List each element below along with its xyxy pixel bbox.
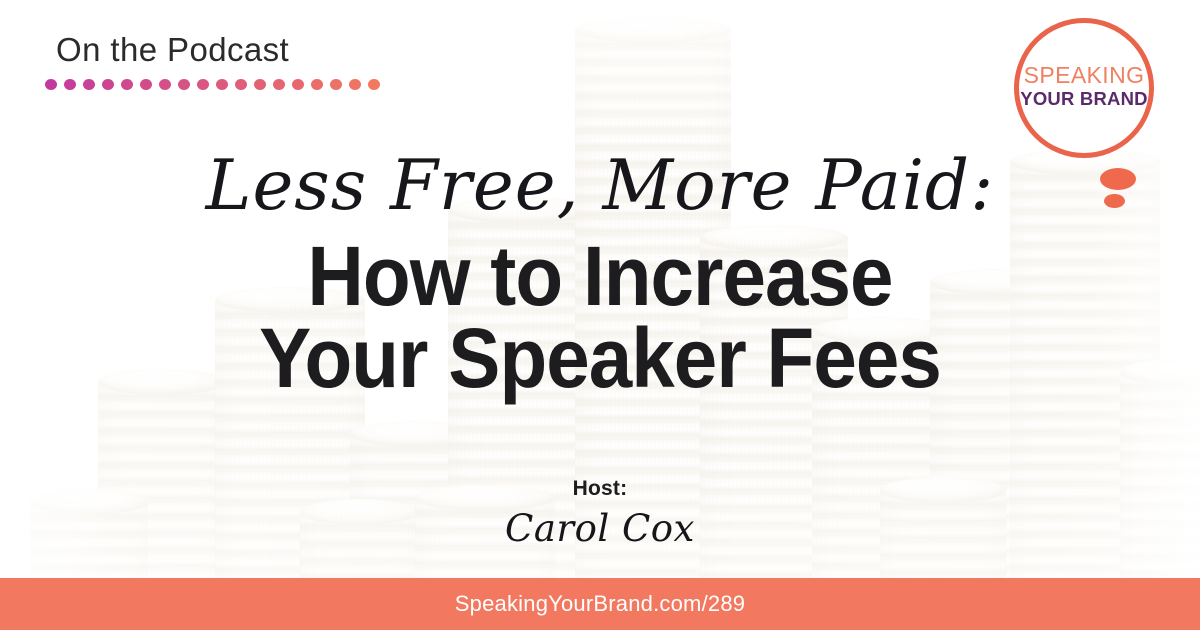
episode-url[interactable]: SpeakingYourBrand.com/289 [455,593,745,615]
divider-dot [64,79,76,90]
divider-dot [121,79,133,90]
podcast-episode-cover: On the Podcast SPEAKING YOUR BRAND Less … [0,0,1200,630]
divider-dot [83,79,95,90]
divider-dot [140,79,152,90]
kicker-block: On the Podcast [56,33,380,90]
divider-dot [292,79,304,90]
divider-dot [197,79,209,90]
divider-dot [311,79,323,90]
divider-dot [330,79,342,90]
host-name: Carol Cox [0,510,1200,547]
kicker-label: On the Podcast [56,33,380,66]
divider-dot [368,79,380,90]
divider-dot [235,79,247,90]
divider-dot [45,79,57,90]
logo-line-your-brand: YOUR BRAND [1014,90,1154,109]
episode-subtitle-script: Less Free, More Paid: [0,152,1200,221]
divider-dot [254,79,266,90]
divider-dot [273,79,285,90]
title-block: Less Free, More Paid: How to Increase Yo… [0,152,1200,400]
host-block: Host: Carol Cox [0,478,1200,547]
footer-bar: SpeakingYourBrand.com/289 [0,578,1200,630]
divider-dot [349,79,361,90]
divider-dot [216,79,228,90]
host-label: Host: [0,478,1200,499]
divider-dot [102,79,114,90]
page-title: How to Increase Your Speaker Fees [42,235,1158,400]
dot-divider [45,79,380,90]
logo-line-speaking: SPEAKING [1014,64,1154,87]
divider-dot [178,79,190,90]
logo-wordmark: SPEAKING YOUR BRAND [1014,64,1154,109]
headline-line-2: Your Speaker Fees [42,317,1158,399]
headline-line-1: How to Increase [42,235,1158,317]
divider-dot [159,79,171,90]
